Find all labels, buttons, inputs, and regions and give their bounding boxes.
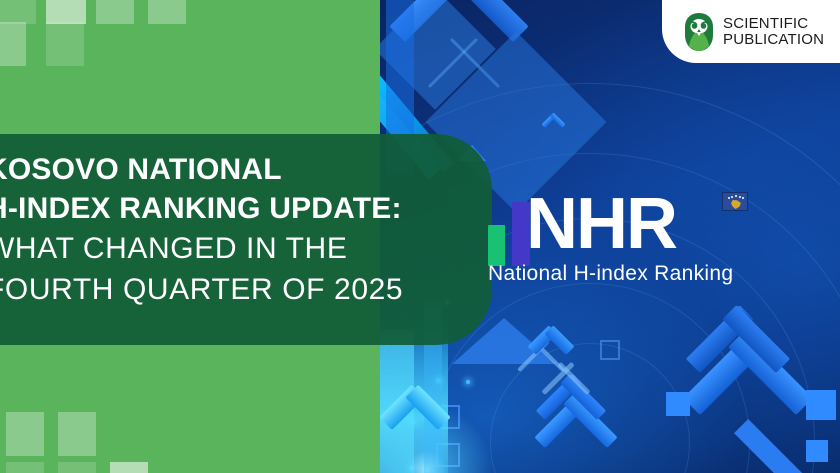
nhr-logo: NHR National H-index Ranking — [488, 190, 748, 300]
outline-square-c — [600, 340, 620, 360]
title-line-1: KOSOVO NATIONAL — [0, 150, 500, 189]
blue-square-right — [806, 390, 836, 420]
glow-dot-b — [466, 380, 470, 384]
nhr-subtitle: National H-index Ranking — [488, 262, 733, 286]
title-line-2: H-INDEX RANKING UPDATE: — [0, 189, 500, 228]
kosovo-flag-icon — [722, 192, 748, 211]
owl-icon — [684, 13, 714, 51]
kosovo-flag-map — [731, 200, 741, 209]
blue-square-right-2 — [806, 440, 828, 462]
title-line-3: WHAT CHANGED IN THE — [0, 228, 500, 269]
nhr-bar-green — [488, 225, 505, 266]
page-title: KOSOVO NATIONAL H-INDEX RANKING UPDATE: … — [0, 150, 500, 310]
publisher-logo-text: SCIENTIFIC PUBLICATION — [723, 16, 824, 48]
publisher-logo-line-2: PUBLICATION — [723, 32, 824, 48]
title-line-4: FOURTH QUARTER OF 2025 — [0, 269, 500, 310]
publisher-logo-line-1: SCIENTIFIC — [723, 16, 824, 32]
publisher-logo-badge[interactable]: SCIENTIFIC PUBLICATION — [662, 0, 840, 63]
blue-bar-right — [666, 392, 690, 416]
banner-root: KOSOVO NATIONAL H-INDEX RANKING UPDATE: … — [0, 0, 840, 473]
kosovo-flag-stars — [728, 195, 744, 199]
nhr-acronym: NHR — [526, 186, 676, 262]
